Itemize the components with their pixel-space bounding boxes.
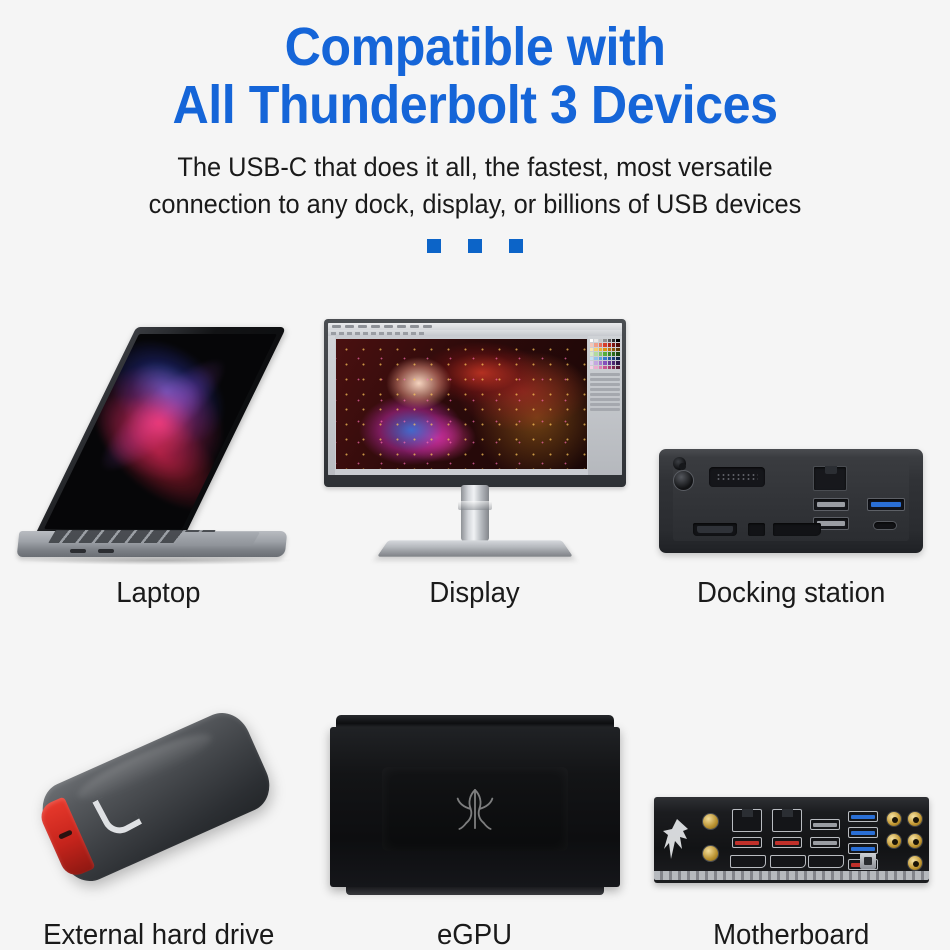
motherboard-icon [654,789,929,899]
menu-item [371,325,380,328]
panel-row [590,383,620,386]
color-swatch [616,339,619,342]
option-control [331,332,336,335]
color-swatch [603,352,606,355]
color-swatch [599,348,602,351]
audio-jack-4 [907,833,923,849]
color-swatch [594,361,597,364]
color-swatch [603,348,606,351]
usb-c-port [873,521,897,530]
color-swatch [616,361,619,364]
vga-port [709,467,765,487]
page-subtitle: The USB-C that does it all, the fastest,… [29,149,922,224]
color-swatch [594,343,597,346]
audio-jack-2 [907,811,923,827]
color-swatch [594,366,597,369]
dock-icon [659,449,923,553]
photoshop-toolbar [328,336,335,475]
usb-a-port-1 [810,819,840,830]
color-swatch [590,361,593,364]
triple-snake-logo-icon [447,783,503,835]
egpu-chassis [330,727,620,887]
device-label-external-hard-drive: External hard drive [43,911,274,950]
monitor-screen [328,323,622,475]
usb-a-port-1 [813,498,849,511]
panel-row [590,403,620,406]
usb-port-red-1 [732,837,762,848]
menu-item [397,325,406,328]
option-control [403,332,408,335]
color-swatch [594,352,597,355]
color-swatch [590,339,593,342]
menu-item [423,325,432,328]
device-cell-display: Display [317,296,634,608]
option-control [387,332,392,335]
color-swatch [590,357,593,360]
motherboard-edge-connector [654,871,929,880]
menu-item [345,325,354,328]
color-swatch [608,343,611,346]
device-label-egpu: eGPU [437,911,512,950]
device-label-docking-station: Docking station [697,569,885,608]
color-swatch [590,348,593,351]
usb-3-port-2 [848,827,878,838]
panel-row [590,398,620,401]
usb-a-port-2 [810,837,840,848]
color-swatch [594,348,597,351]
color-swatch [612,352,615,355]
color-swatch [590,343,593,346]
mini-displayport [748,523,765,536]
option-control [419,332,424,335]
color-swatch [616,352,619,355]
option-control [411,332,416,335]
laptop-screen [44,334,277,529]
color-swatch [616,348,619,351]
page-title: Compatible with All Thunderbolt 3 Device… [33,18,917,135]
ethernet-port-2 [772,809,802,832]
motherboard-stage [633,626,950,911]
device-cell-laptop: Laptop [0,296,317,608]
color-swatch [599,339,602,342]
menu-item [358,325,367,328]
color-swatch [616,357,619,360]
panel-row [590,378,620,381]
laptop-stage [0,296,317,569]
dock-port-panel [673,457,909,541]
laptop-shadow [26,556,291,565]
motherboard-io-panel [654,797,929,883]
device-cell-docking-station: Docking station [633,296,950,608]
color-swatch [612,339,615,342]
panel-row [590,393,620,396]
color-swatch [612,361,615,364]
egpu-foot [346,887,604,895]
device-row-1: Laptop [0,296,950,608]
egpu-stage [317,626,634,911]
panel-row [590,373,620,376]
egpu-icon [330,715,620,895]
ethernet-port-1 [732,809,762,832]
option-control [339,332,344,335]
option-control [355,332,360,335]
color-swatch [608,366,611,369]
color-swatch [603,361,606,364]
legacy-video-port-2 [770,855,806,868]
display-stage [317,296,634,569]
laptop-usb-c-port-1 [70,549,86,553]
panel-row [590,388,620,391]
color-swatch [599,366,602,369]
device-cell-motherboard: Motherboard [633,626,950,950]
photoshop-panels [588,336,622,475]
ssd-stage [0,626,317,911]
color-swatch [616,343,619,346]
headline-line-1: Compatible with [285,17,666,77]
color-swatch [603,366,606,369]
ssd-device [34,704,279,889]
product-infographic-page: Compatible with All Thunderbolt 3 Device… [0,0,950,950]
laptop-usb-c-port-2 [98,549,114,553]
color-swatch [608,348,611,351]
color-swatch [603,339,606,342]
monitor-stand-base [377,540,573,556]
displayport [808,855,844,868]
photoshop-canvas [336,339,587,469]
color-swatch [608,339,611,342]
laptop-icon [18,335,298,565]
menu-item [410,325,419,328]
ethernet-port [813,466,847,491]
subtitle-line-2: connection to any dock, display, or bill… [29,186,922,223]
usb-3-port-1 [848,811,878,822]
swatches-panel [590,339,620,369]
displayport [773,523,821,536]
usb-port-red-2 [772,837,802,848]
laptop-lid [34,327,286,537]
divider-square-1 [427,239,441,253]
divider-square-3 [509,239,523,253]
photoshop-menubar [328,323,622,330]
color-swatch [599,357,602,360]
color-swatch [612,366,615,369]
monitor-stand-neck [461,485,489,541]
color-swatch [612,343,615,346]
three-square-divider [0,239,950,253]
color-swatch [608,357,611,360]
device-label-display: Display [430,569,520,608]
color-swatch [599,352,602,355]
laptop-trackpad [174,532,260,546]
color-swatch [599,343,602,346]
ssd-highlight [73,724,218,808]
monitor-icon [324,319,626,569]
egpu-side-panel [382,767,568,851]
optical-spdif-port [860,853,876,869]
color-swatch [590,366,593,369]
canvas-particles [336,339,587,469]
legacy-video-port-1 [730,855,766,868]
wifi-antenna-connector-1 [702,813,719,830]
device-row-2: External hard drive [0,626,950,950]
menu-item [384,325,393,328]
color-swatch [608,352,611,355]
dock-stage [633,296,950,569]
headline-line-2: All Thunderbolt 3 Devices [33,76,917,134]
color-swatch [612,357,615,360]
ssd-icon [33,715,283,895]
monitor-bezel [324,319,626,487]
device-label-motherboard: Motherboard [713,911,869,950]
laptop-wallpaper [44,334,277,529]
device-cell-external-hard-drive: External hard drive [0,626,317,950]
hdmi-port [693,523,737,536]
subtitle-line-1: The USB-C that does it all, the fastest,… [29,149,922,186]
color-swatch [599,361,602,364]
usb-3-port [867,498,905,511]
divider-square-2 [468,239,482,253]
color-swatch [594,357,597,360]
wifi-antenna-connector-2 [702,845,719,862]
color-swatch [603,343,606,346]
panel-row [590,408,620,411]
device-cell-egpu: eGPU [317,626,634,950]
audio-jack-1 [886,811,902,827]
option-control [379,332,384,335]
color-swatch [608,361,611,364]
color-swatch [603,357,606,360]
color-swatch [616,366,619,369]
photoshop-workspace [328,336,622,475]
eagle-logo-icon [661,815,693,867]
option-control [347,332,352,335]
color-swatch [594,339,597,342]
device-label-laptop: Laptop [116,569,200,608]
color-swatch [612,348,615,351]
audio-jack-3 [886,833,902,849]
device-grid: Laptop [0,296,950,950]
header: Compatible with All Thunderbolt 3 Device… [0,0,950,253]
menu-item [332,325,341,328]
audio-jack-5 [907,855,923,871]
power-port [673,470,694,491]
option-control [395,332,400,335]
option-control [363,332,368,335]
color-swatch [590,352,593,355]
option-control [371,332,376,335]
